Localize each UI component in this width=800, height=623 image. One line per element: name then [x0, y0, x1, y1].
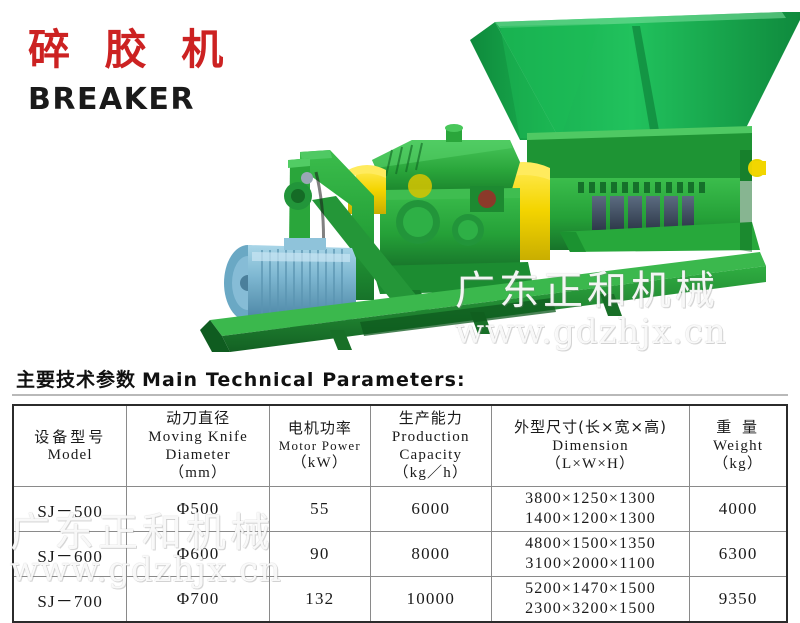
cell-capacity: 6000: [370, 487, 491, 532]
cell-knife-diameter: Φ700: [127, 577, 269, 623]
cell-model: SJ－500: [13, 487, 127, 532]
page-title-en: BREAKER: [28, 82, 233, 117]
page-title-cn: 碎 胶 机: [28, 28, 233, 72]
heading-divider: [12, 394, 788, 396]
column-header-dimension: 外型尺寸(长×宽×高) Dimension （L×W×H）: [491, 405, 689, 487]
column-header-model: 设备型号 Model: [13, 405, 127, 487]
table-row: SJ－500 Φ500 55 6000 3800×1250×1300 1400×…: [13, 487, 787, 532]
specifications-table: 设备型号 Model 动刀直径 Moving Knife Diameter （m…: [12, 404, 788, 623]
cell-weight: 6300: [690, 532, 787, 577]
cell-motor-power: 55: [269, 487, 370, 532]
section-heading-cn: 主要技术参数: [16, 369, 136, 391]
cell-capacity: 8000: [370, 532, 491, 577]
section-heading: 主要技术参数Main Technical Parameters:: [16, 365, 466, 392]
column-header-capacity: 生产能力 Production Capacity （kg／h）: [370, 405, 491, 487]
cell-motor-power: 132: [269, 577, 370, 623]
cell-weight: 4000: [690, 487, 787, 532]
cell-dimension: 3800×1250×1300 1400×1200×1300: [491, 487, 689, 532]
cell-dimension: 5200×1470×1500 2300×3200×1500: [491, 577, 689, 623]
cell-model: SJ－600: [13, 532, 127, 577]
cell-motor-power: 90: [269, 532, 370, 577]
table-row: SJ－600 Φ600 90 8000 4800×1500×1350 3100×…: [13, 532, 787, 577]
cutting-chamber: [527, 126, 766, 252]
title-block: 碎 胶 机 BREAKER: [28, 28, 233, 117]
cell-knife-diameter: Φ500: [127, 487, 269, 532]
cell-capacity: 10000: [370, 577, 491, 623]
column-header-knife-diameter: 动刀直径 Moving Knife Diameter （mm）: [127, 405, 269, 487]
cell-weight: 9350: [690, 577, 787, 623]
cell-knife-diameter: Φ600: [127, 532, 269, 577]
column-header-motor-power: 电机功率 Motor Power （kW）: [269, 405, 370, 487]
cell-dimension: 4800×1500×1350 3100×2000×1100: [491, 532, 689, 577]
cell-model: SJ－700: [13, 577, 127, 623]
section-heading-en: Main Technical Parameters:: [142, 369, 466, 391]
column-header-weight: 重 量 Weight （kg）: [690, 405, 787, 487]
table-header-row: 设备型号 Model 动刀直径 Moving Knife Diameter （m…: [13, 405, 787, 487]
table-row: SJ－700 Φ700 132 10000 5200×1470×1500 230…: [13, 577, 787, 623]
